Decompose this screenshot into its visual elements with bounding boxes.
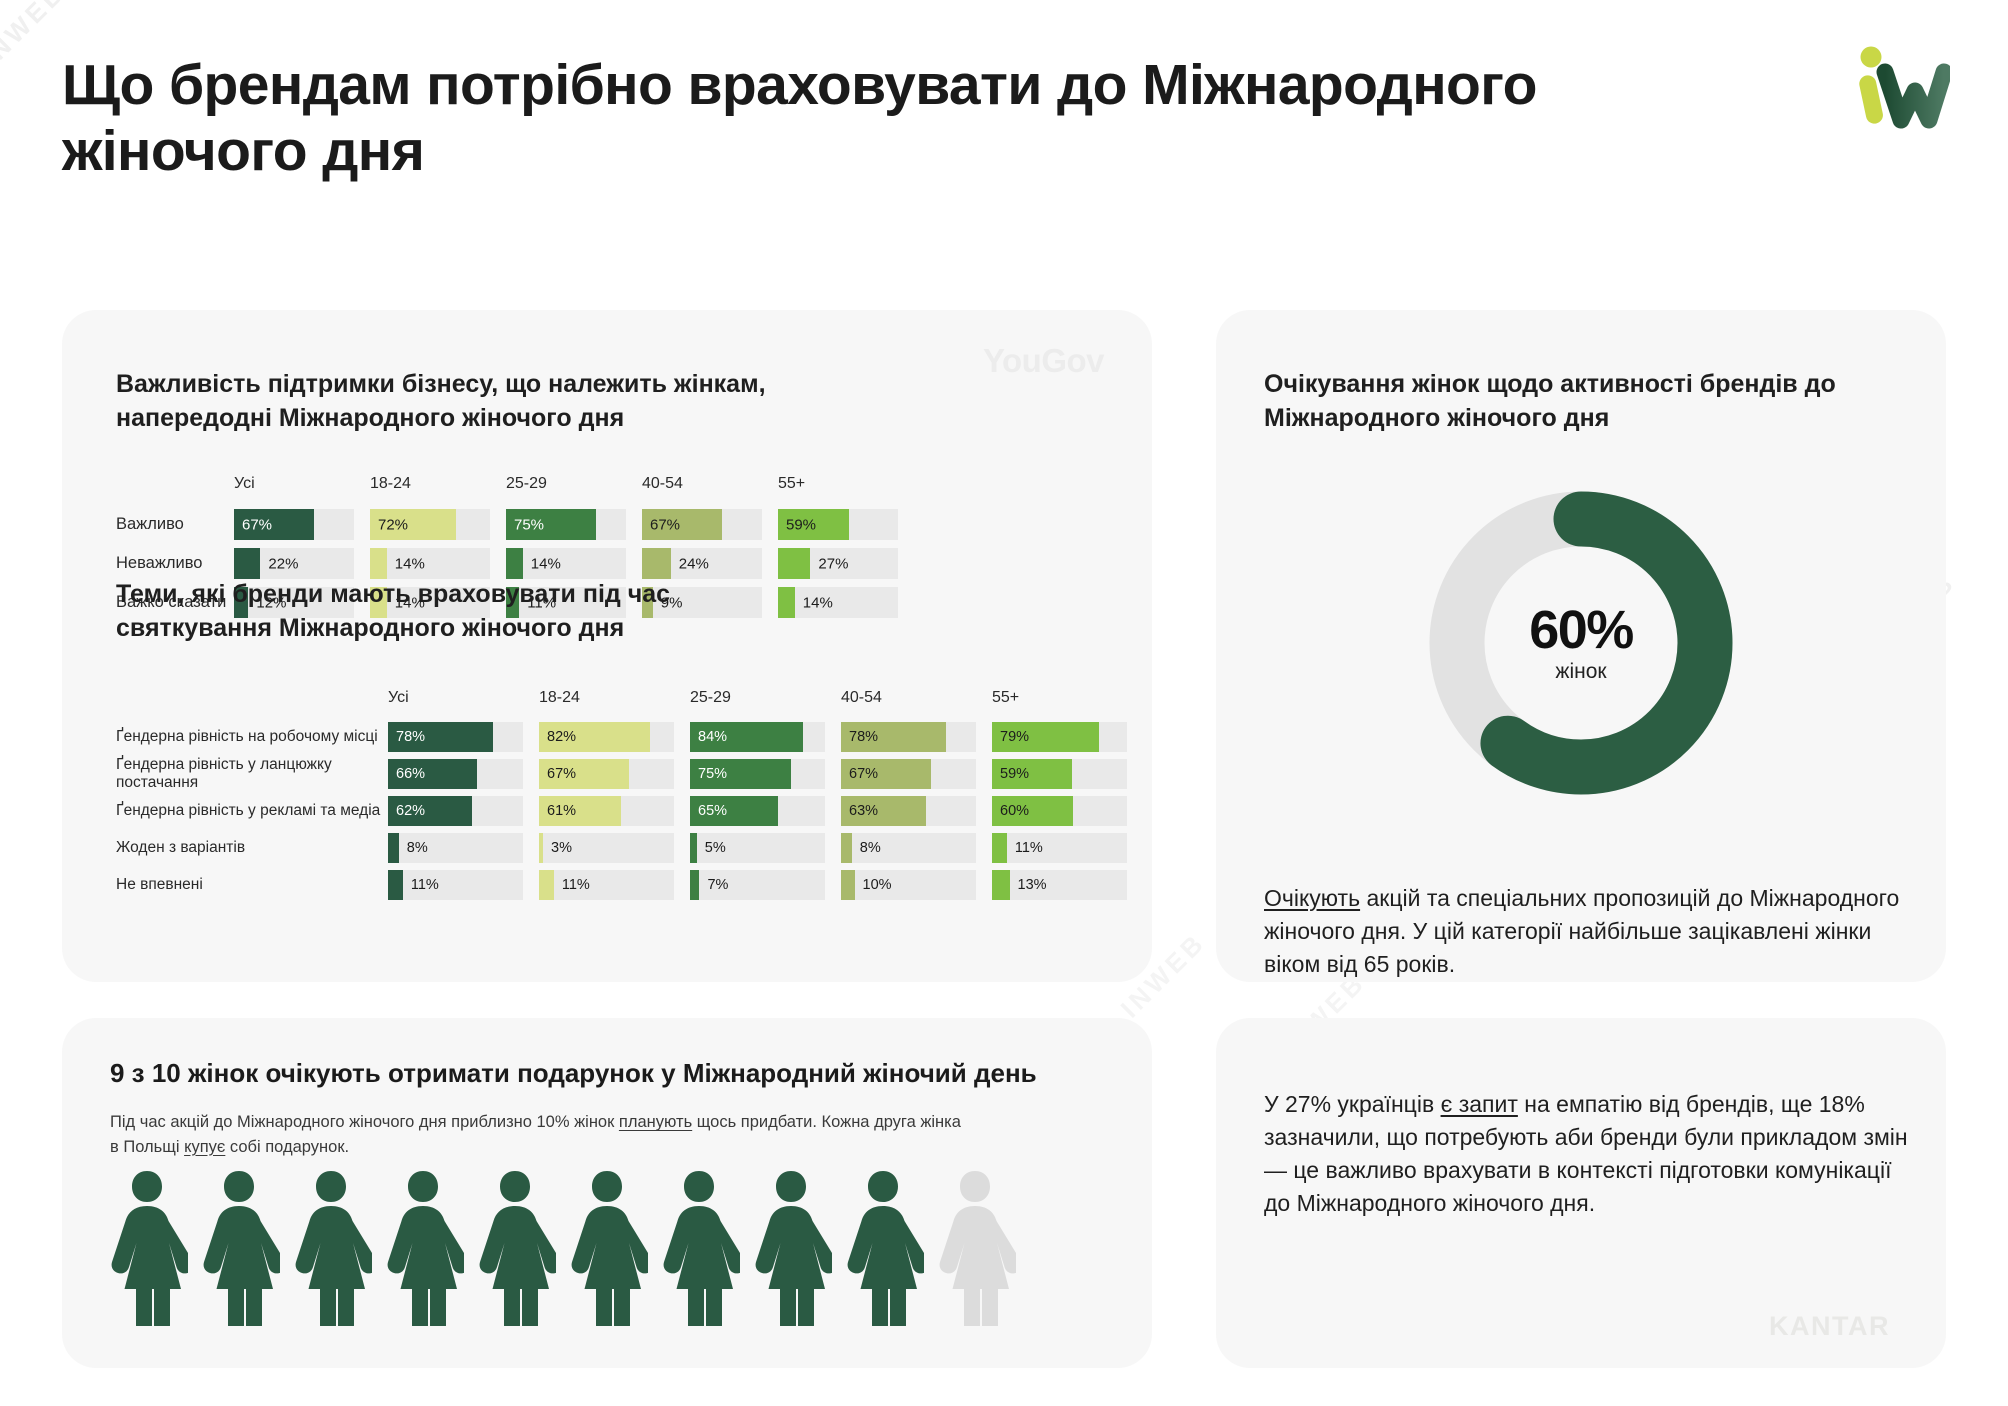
bar (778, 548, 810, 579)
row-label: Не впевнені (116, 876, 388, 894)
female-figure-icon-filled (750, 1166, 832, 1326)
bar-track: 67% (539, 759, 674, 789)
bar-value-label: 27% (818, 555, 848, 572)
bar-track: 7% (690, 870, 825, 900)
donut-note: Очікують акцій та спеціальних пропозицій… (1264, 882, 1914, 981)
header-spacer (116, 475, 234, 501)
female-figure-icon-filled (382, 1166, 464, 1326)
bar-value-label: 14% (531, 555, 561, 572)
bar-track: 67% (841, 759, 976, 789)
column-header: 18-24 (539, 689, 674, 715)
chart2-grid: Усі18-2425-2940-5455+Ґендерна рівність н… (116, 689, 1126, 900)
bar (992, 870, 1010, 900)
bar-track: 78% (841, 722, 976, 752)
card-donut: Очікування жінок щодо активності брендів… (1216, 310, 1946, 982)
card-charts: YouGov Важливість підтримки бізнесу, що … (62, 310, 1152, 982)
bar-value-label: 8% (407, 840, 428, 856)
bar-track: 14% (506, 548, 626, 579)
bar-track: 75% (506, 509, 626, 540)
bar-track: 11% (992, 833, 1127, 863)
bar-value-label: 75% (514, 516, 544, 533)
column-header-row: Усі18-2425-2940-5455+ (116, 475, 1106, 501)
female-figure-icon-filled (842, 1166, 924, 1326)
pictogram-people-row (106, 1166, 1016, 1326)
chart2-title: Теми, які бренди мають враховувати під ч… (116, 578, 736, 645)
page-title: Що брендам потрібно враховувати до Міжна… (62, 52, 1702, 184)
row-label: Ґендерна рівність у рекламі та медіа (116, 802, 388, 820)
bar-track: 63% (841, 796, 976, 826)
empathy-note: У 27% українців є запит на емпатію від б… (1264, 1088, 1914, 1220)
row-label: Жоден з варіантів (116, 839, 388, 857)
female-figure-icon-filled (106, 1166, 188, 1326)
bar-value-label: 59% (786, 516, 816, 533)
sub-text-c: собі подарунок. (225, 1138, 349, 1156)
bar-track: 11% (388, 870, 523, 900)
bar-track: 75% (690, 759, 825, 789)
bar-value-label: 67% (547, 766, 576, 782)
column-header: 55+ (778, 475, 898, 501)
column-header: 40-54 (642, 475, 762, 501)
sub-link-planuyut[interactable]: планують (619, 1113, 692, 1131)
bar-value-label: 78% (396, 729, 425, 745)
column-header-row: Усі18-2425-2940-5455+ (116, 689, 1126, 715)
bar-value-label: 22% (268, 555, 298, 572)
chart-row: Не впевнені11%11%7%10%13% (116, 870, 1126, 900)
chart-row: Неважливо22%14%14%24%27% (116, 548, 1106, 579)
bar-track: 84% (690, 722, 825, 752)
bar-value-label: 7% (707, 877, 728, 893)
bar-track: 65% (690, 796, 825, 826)
bar-track: 3% (539, 833, 674, 863)
female-figure-icon-filled (566, 1166, 648, 1326)
bar (841, 833, 852, 863)
bar-track: 79% (992, 722, 1127, 752)
column-header: 25-29 (506, 475, 626, 501)
bar-value-label: 13% (1018, 877, 1047, 893)
bar-track: 8% (841, 833, 976, 863)
header-spacer (116, 689, 388, 715)
donut-title: Очікування жінок щодо активності брендів… (1264, 368, 1884, 435)
bar-value-label: 5% (705, 840, 726, 856)
bar-track: 62% (388, 796, 523, 826)
bar-value-label: 14% (395, 555, 425, 572)
bar-value-label: 66% (396, 766, 425, 782)
bar-value-label: 11% (1015, 840, 1043, 856)
bar (690, 833, 697, 863)
bar-value-label: 11% (411, 877, 439, 893)
bar (388, 833, 399, 863)
bar-track: 5% (690, 833, 825, 863)
chart-row: Важливо67%72%75%67%59% (116, 509, 1106, 540)
sub-text-a: Під час акцій до Міжнародного жіночого д… (110, 1113, 619, 1131)
bar (539, 833, 543, 863)
bar (388, 870, 403, 900)
bar-value-label: 67% (242, 516, 272, 533)
bar-track: 72% (370, 509, 490, 540)
donut-note-link[interactable]: Очікують (1264, 885, 1360, 911)
bar-value-label: 75% (698, 766, 727, 782)
column-header: 55+ (992, 689, 1127, 715)
infographic-page: INWEB INWEB INWEB INWEB INWEB Що брендам… (0, 0, 2008, 1406)
bar-track: 8% (388, 833, 523, 863)
bar-value-label: 82% (547, 729, 576, 745)
bar-track: 66% (388, 759, 523, 789)
female-figure-icon-filled (658, 1166, 740, 1326)
donut-chart: 60% жінок (1416, 478, 1746, 808)
bar-value-label: 61% (547, 803, 576, 819)
bar-track: 67% (642, 509, 762, 540)
column-header: 25-29 (690, 689, 825, 715)
chart-row: Ґендерна рівність у рекламі та медіа62%6… (116, 796, 1126, 826)
bar-track: 59% (778, 509, 898, 540)
bar-track: 27% (778, 548, 898, 579)
empathy-note-link[interactable]: є запит (1441, 1091, 1518, 1117)
bar-value-label: 79% (1000, 729, 1029, 745)
chart-themes: Теми, які бренди мають враховувати під ч… (116, 578, 1126, 900)
bar (690, 870, 699, 900)
bar-track: 60% (992, 796, 1127, 826)
bar (370, 548, 387, 579)
kantar-watermark: KANTAR (1769, 1311, 1890, 1342)
bar-value-label: 84% (698, 729, 727, 745)
bar-track: 67% (234, 509, 354, 540)
bar-value-label: 62% (396, 803, 425, 819)
bar-value-label: 65% (698, 803, 727, 819)
female-figure-icon-filled (290, 1166, 372, 1326)
bar-value-label: 3% (551, 840, 572, 856)
card-empathy-note: У 27% українців є запит на емпатію від б… (1216, 1018, 1946, 1368)
bar-value-label: 8% (860, 840, 881, 856)
row-label: Ґендерна рівність на робочому місці (116, 728, 388, 746)
chart-row: Ґендерна рівність у ланцюжку постачання6… (116, 759, 1126, 789)
bar-track: 82% (539, 722, 674, 752)
bar-track: 78% (388, 722, 523, 752)
donut-svg (1416, 478, 1746, 808)
bar-track: 59% (992, 759, 1127, 789)
row-label: Ґендерна рівність у ланцюжку постачання (116, 756, 388, 792)
column-header: 40-54 (841, 689, 976, 715)
female-figure-icon-filled (198, 1166, 280, 1326)
bar-track: 13% (992, 870, 1127, 900)
bar-track: 24% (642, 548, 762, 579)
bar-value-label: 59% (1000, 766, 1029, 782)
pictogram-subtitle: Під час акцій до Міжнародного жіночого д… (110, 1110, 970, 1160)
bar-value-label: 67% (849, 766, 878, 782)
bar (841, 870, 855, 900)
female-figure-icon-filled (474, 1166, 556, 1326)
row-label: Неважливо (116, 554, 234, 573)
inweb-logo-icon (1858, 44, 1950, 130)
bar-value-label: 72% (378, 516, 408, 533)
card-pictogram: 9 з 10 жінок очікують отримати подарунок… (62, 1018, 1152, 1368)
column-header: Усі (388, 689, 523, 715)
bar (506, 548, 523, 579)
donut-note-rest: акцій та спеціальних пропозицій до Міжна… (1264, 885, 1899, 977)
female-figure-icon-empty (934, 1166, 1016, 1326)
bar (539, 870, 554, 900)
sub-link-kupuye[interactable]: купує (184, 1138, 225, 1156)
pictogram-title: 9 з 10 жінок очікують отримати подарунок… (110, 1058, 1100, 1089)
row-label: Важливо (116, 515, 234, 534)
empathy-note-a: У 27% українців (1264, 1091, 1441, 1117)
bar (234, 548, 260, 579)
bar-track: 14% (370, 548, 490, 579)
bar-track: 61% (539, 796, 674, 826)
bar-value-label: 11% (562, 877, 590, 893)
bar (992, 833, 1007, 863)
chart-row: Жоден з варіантів8%3%5%8%11% (116, 833, 1126, 863)
bar-track: 10% (841, 870, 976, 900)
bar-value-label: 67% (650, 516, 680, 533)
bar-value-label: 24% (679, 555, 709, 572)
bar-track: 11% (539, 870, 674, 900)
bar (642, 548, 671, 579)
bar-value-label: 60% (1000, 803, 1029, 819)
column-header: Усі (234, 475, 354, 501)
chart1-title: Важливість підтримки бізнесу, що належит… (116, 368, 856, 435)
bar-track: 22% (234, 548, 354, 579)
bar-value-label: 10% (863, 877, 892, 893)
column-header: 18-24 (370, 475, 490, 501)
bar-value-label: 78% (849, 729, 878, 745)
bar-value-label: 63% (849, 803, 878, 819)
chart-row: Ґендерна рівність на робочому місці78%82… (116, 722, 1126, 752)
